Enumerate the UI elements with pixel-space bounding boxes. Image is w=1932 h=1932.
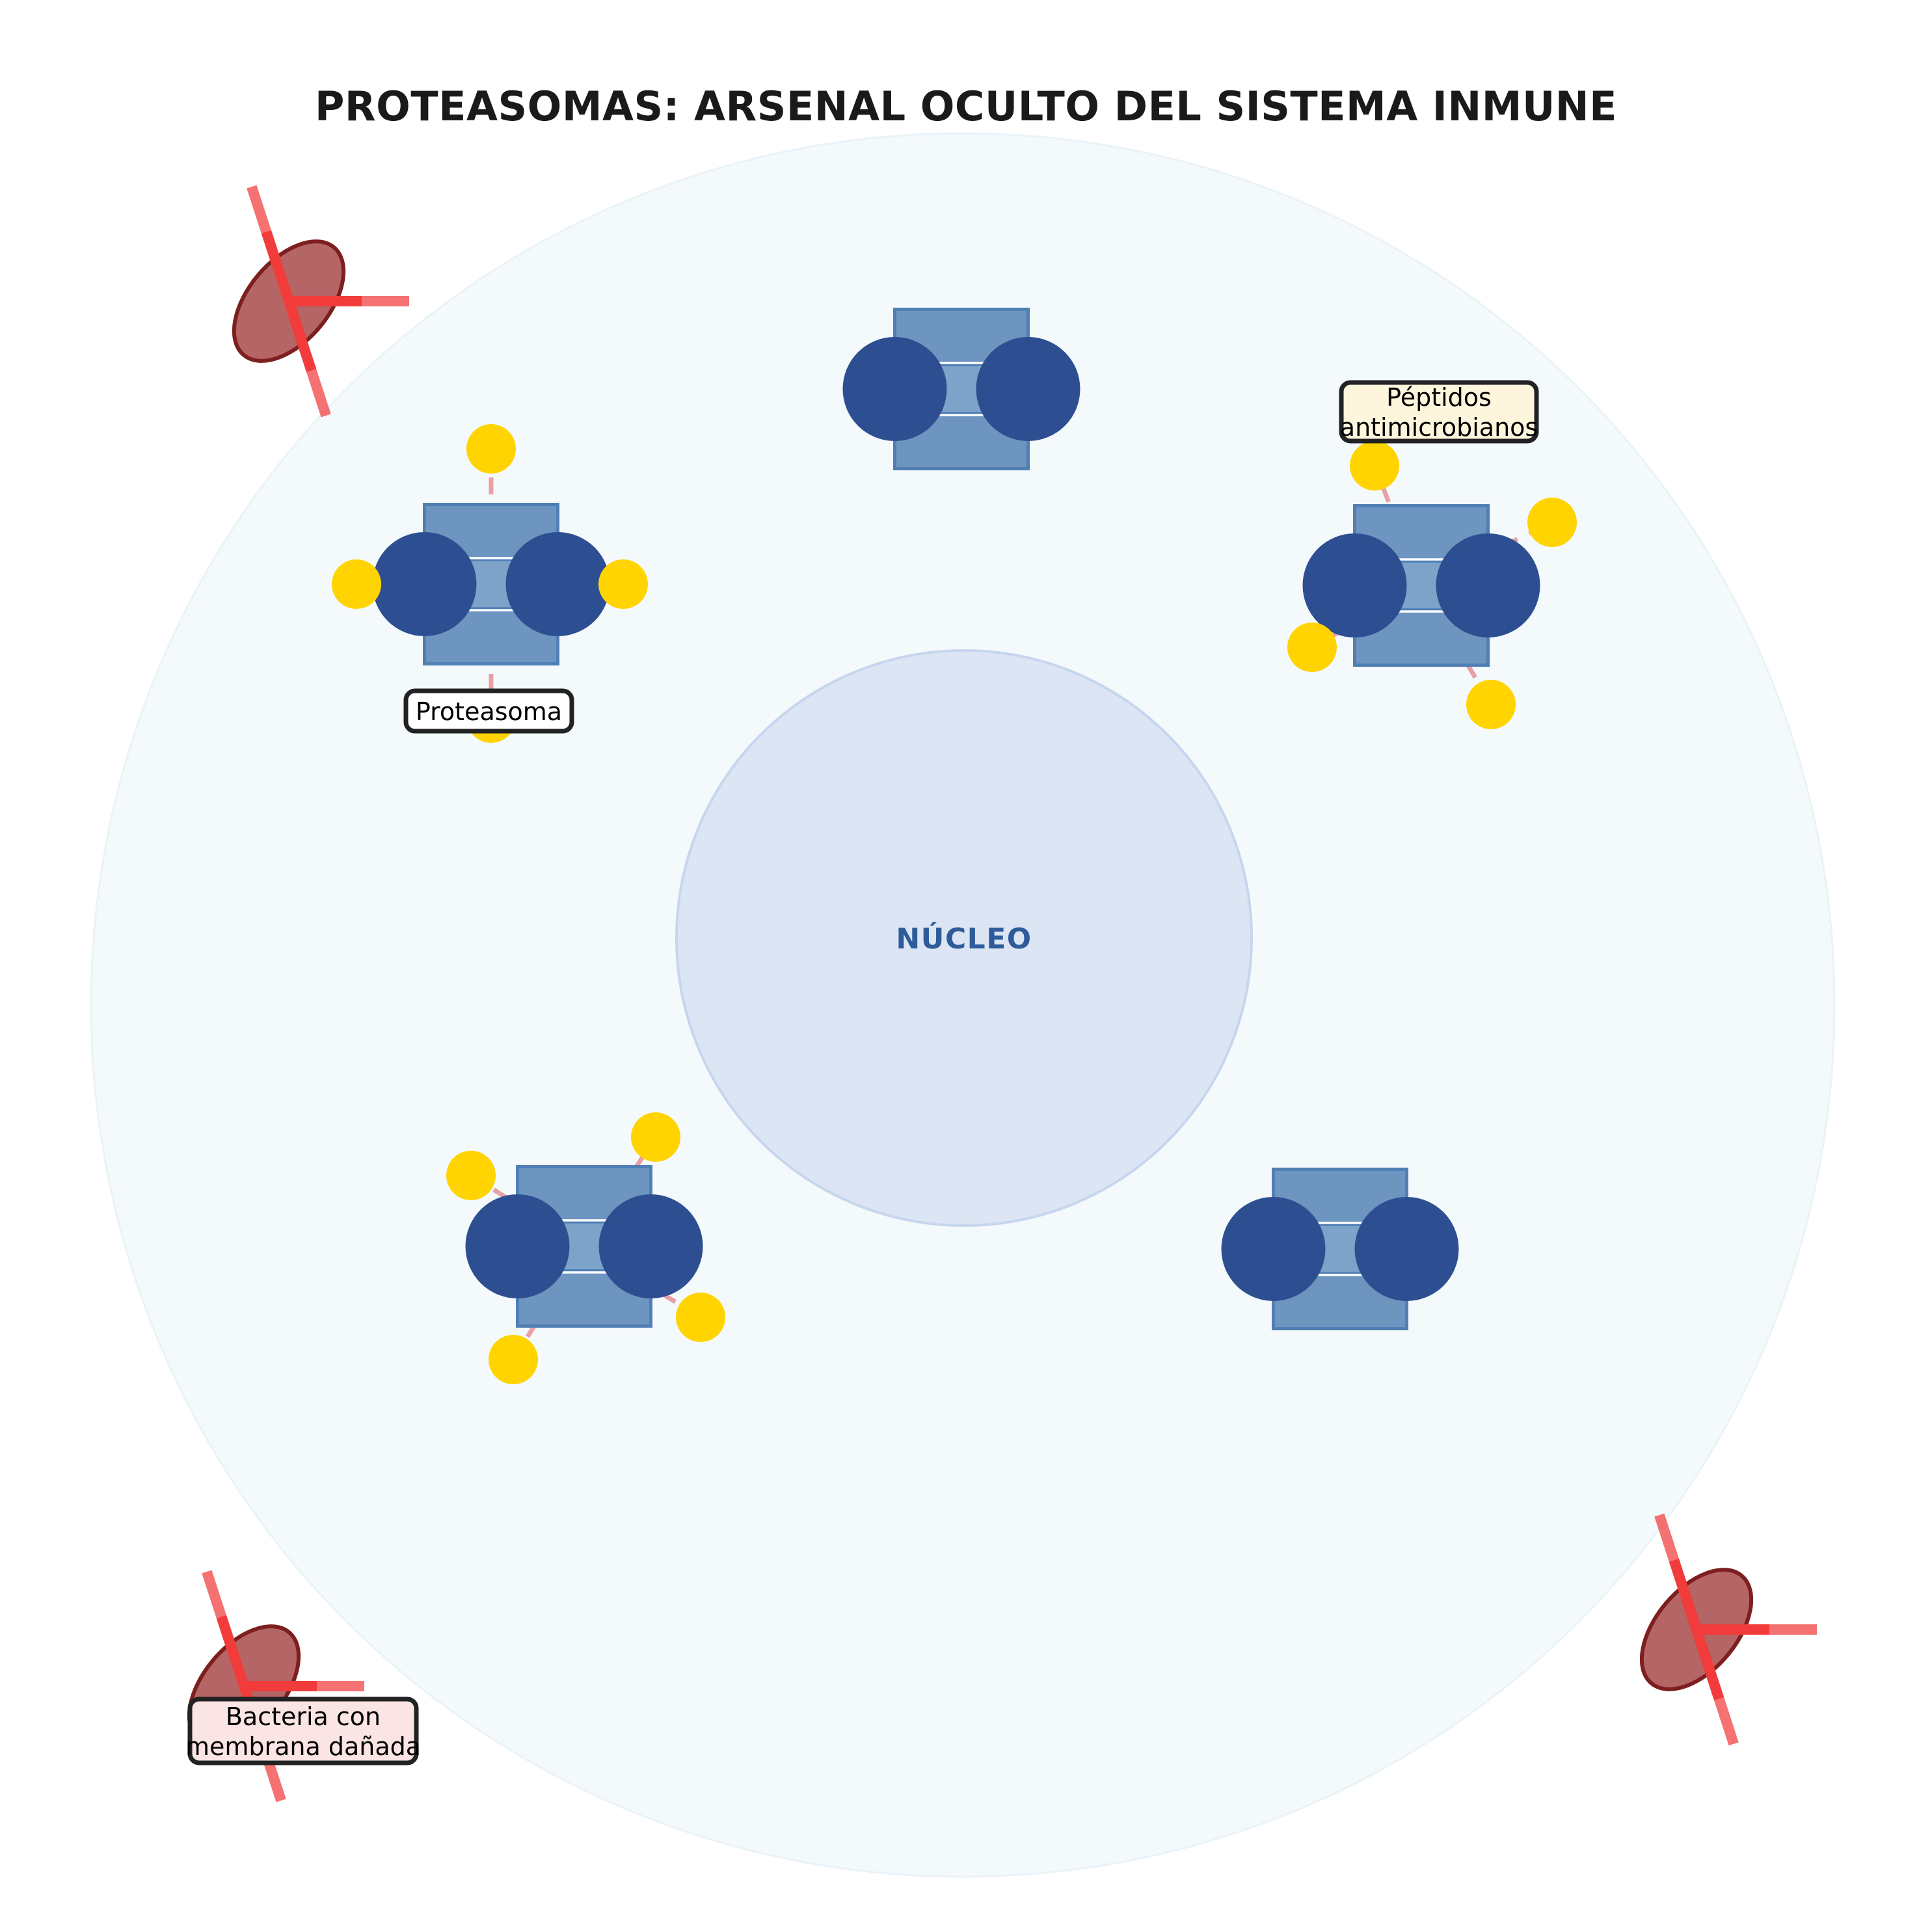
antimicrobial-peptide xyxy=(1466,680,1516,729)
antimicrobial-peptide xyxy=(1527,498,1577,547)
antimicrobial-peptide xyxy=(676,1293,725,1342)
antimicrobial-peptide xyxy=(598,559,648,609)
antimicrobial-peptide xyxy=(332,559,381,609)
antimicrobial-peptide xyxy=(446,1151,496,1200)
antimicrobial-peptide xyxy=(631,1112,680,1162)
callout-line: Péptidos xyxy=(1386,383,1492,412)
proteasome-immune-diagram: PROTEASOMAS: ARSENAL OCULTO DEL SISTEMA … xyxy=(0,0,1932,1932)
nucleus-label: NÚCLEO xyxy=(896,921,1032,956)
callout-line: membrana dañada xyxy=(185,1732,421,1761)
antimicrobial-peptide xyxy=(1287,623,1337,672)
callout-line: Proteasoma xyxy=(416,697,562,726)
diagram-canvas: PROTEASOMAS: ARSENAL OCULTO DEL SISTEMA … xyxy=(0,0,1932,1932)
proteasome-cap-left xyxy=(1303,533,1407,637)
proteasome-cap-right xyxy=(1355,1197,1459,1301)
peptidos-antimicrobianos-callout: Péptidosantimicrobianos xyxy=(1340,382,1538,442)
proteasome-cap-left xyxy=(466,1194,570,1298)
callout-line: Bacteria con xyxy=(226,1702,381,1731)
proteasome-cap-right xyxy=(976,337,1080,441)
callout-line: antimicrobianos xyxy=(1340,413,1538,442)
proteasome-cap-right xyxy=(599,1194,703,1298)
antimicrobial-peptide xyxy=(489,1335,538,1384)
proteasome-cap-right xyxy=(506,532,610,636)
nucleus: NÚCLEO xyxy=(677,651,1252,1226)
proteasome-cap-left xyxy=(843,337,947,441)
bacteria-bottom-right xyxy=(1620,1515,1817,1744)
antimicrobial-peptide xyxy=(466,424,516,474)
proteasoma-callout: Proteasoma xyxy=(406,691,572,731)
proteasome-cap-left xyxy=(373,532,477,636)
proteasome-cap-right xyxy=(1436,533,1540,637)
antimicrobial-peptide xyxy=(1350,441,1399,490)
proteasome-cap-left xyxy=(1222,1197,1326,1301)
bacteria-membrana-danada-callout: Bacteria conmembrana dañada xyxy=(185,1699,421,1763)
page-title: PROTEASOMAS: ARSENAL OCULTO DEL SISTEMA … xyxy=(315,83,1617,130)
